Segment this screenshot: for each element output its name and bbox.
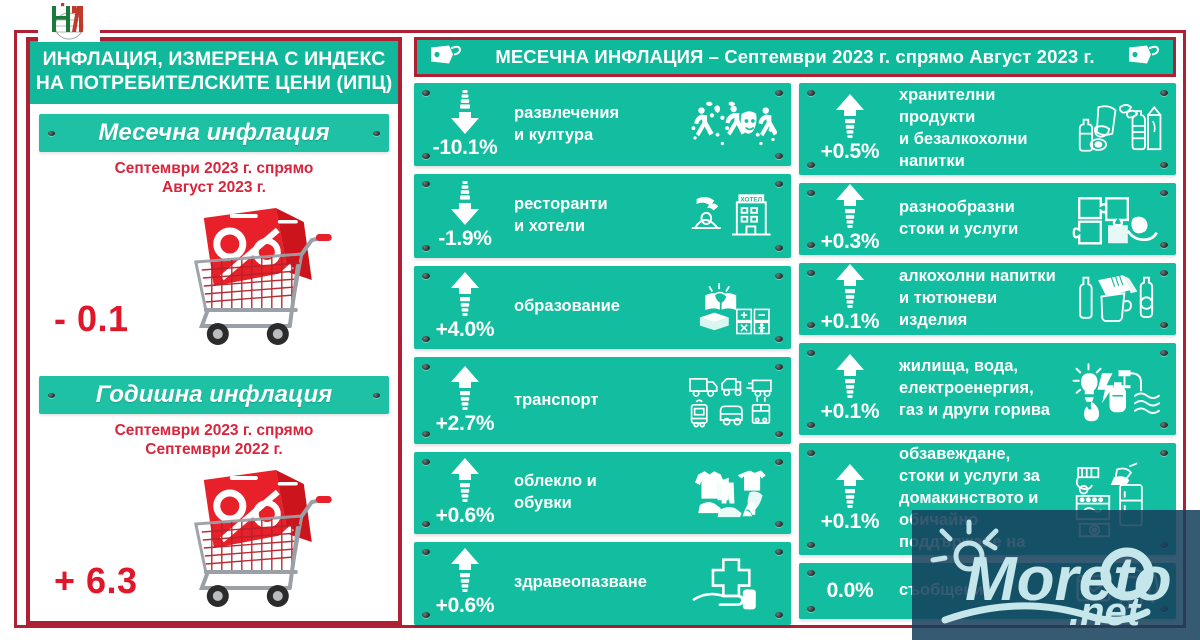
screw-icon	[1160, 90, 1168, 96]
category-label-line: здравеопазване	[514, 572, 681, 594]
category-percent: +2.7%	[436, 412, 495, 436]
category-label-line: алкохолни напитки	[899, 266, 1066, 288]
food-nonalcoholic-icon	[1072, 83, 1176, 175]
screw-icon	[1160, 270, 1168, 276]
annual-period-line1: Септември 2023 г. спрямо	[30, 421, 398, 441]
category-row[interactable]: -1.9%ресторантии хотели ХОТЕЛ	[414, 174, 791, 257]
category-metric: -1.9%	[414, 181, 510, 251]
category-label: разнообразнистоки и услуги	[895, 197, 1072, 241]
monthly-cart-block: - 0.1	[30, 200, 398, 368]
screw-icon	[1160, 190, 1168, 196]
arrow-up-icon	[835, 354, 865, 398]
shopping-cart-percent-icon	[126, 462, 336, 617]
category-metric: +4.0%	[414, 272, 510, 342]
screw-icon	[775, 521, 783, 527]
annual-inflation-value: + 6.3	[54, 560, 138, 602]
annual-period-line2: Септември 2022 г.	[30, 440, 398, 460]
category-metric: +0.1%	[799, 354, 895, 424]
category-label: образование	[510, 296, 687, 318]
screw-icon	[775, 245, 783, 251]
category-label: жилища, вода,електроенергия,газ и други …	[895, 356, 1072, 422]
monthly-period-line2: Август 2023 г.	[30, 178, 398, 198]
arrow-down-icon	[450, 90, 480, 134]
arrow-up-icon	[835, 264, 865, 308]
arrow-up-icon	[450, 458, 480, 502]
category-label-line: и култура	[514, 125, 681, 147]
arrow-down-icon	[450, 181, 480, 225]
arrow-up-icon	[835, 94, 865, 138]
screw-icon	[807, 570, 815, 576]
screw-icon	[1160, 450, 1168, 456]
category-label: хранителни продуктии безалкохолнинапитки	[895, 85, 1072, 173]
arrow-up-icon	[835, 464, 865, 508]
arrow-up-icon	[450, 548, 480, 592]
arrow-up-icon	[450, 366, 480, 410]
category-row[interactable]: +0.6%облекло иобувки	[414, 452, 791, 533]
category-label-line: и хотели	[514, 216, 681, 238]
category-percent: -10.1%	[433, 136, 498, 160]
category-metric: +2.7%	[414, 366, 510, 436]
monthly-period-line1: Септември 2023 г. спрямо	[30, 159, 398, 179]
screw-icon	[422, 521, 430, 527]
annual-period: Септември 2023 г. спрямо Септември 2022 …	[30, 421, 398, 460]
monthly-inflation-header-text: МЕСЕЧНА ИНФЛАЦИЯ – Септември 2023 г. спр…	[495, 46, 1094, 68]
screw-icon	[373, 131, 380, 136]
category-percent: 0.0%	[827, 579, 874, 603]
screw-icon	[422, 336, 430, 342]
screw-icon	[1160, 162, 1168, 168]
category-percent: -1.9%	[438, 227, 491, 251]
category-label: здравеопазване	[510, 572, 687, 594]
category-percent: +0.6%	[436, 504, 495, 528]
page-title: ИНФЛАЦИЯ, ИЗМЕРЕНА С ИНДЕКС НА ПОТРЕБИТЕ…	[30, 41, 398, 104]
category-metric: +0.6%	[414, 548, 510, 618]
category-metric: +0.6%	[414, 458, 510, 528]
monthly-inflation-header: МЕСЕЧНА ИНФЛАЦИЯ – Септември 2023 г. спр…	[414, 37, 1176, 77]
screw-icon	[422, 90, 430, 96]
screw-icon	[775, 273, 783, 279]
category-column-left: -10.1%развлеченияи култура	[414, 83, 791, 625]
category-label-line: облекло и	[514, 471, 681, 493]
screw-icon	[1160, 422, 1168, 428]
category-label-line: и безалкохолни	[899, 129, 1066, 151]
screw-icon	[422, 273, 430, 279]
screw-icon	[807, 542, 815, 548]
category-label-line: газ и други горива	[899, 400, 1066, 422]
screw-icon	[807, 322, 815, 328]
category-label-line: транспорт	[514, 390, 681, 412]
monthly-inflation-value: - 0.1	[54, 298, 129, 340]
screw-icon	[775, 90, 783, 96]
screw-icon	[422, 431, 430, 437]
screw-icon	[48, 393, 55, 398]
category-label-line: жилища, вода,	[899, 356, 1066, 378]
screw-icon	[48, 131, 55, 136]
category-percent: +4.0%	[436, 318, 495, 342]
screw-icon	[422, 612, 430, 618]
screw-icon	[807, 450, 815, 456]
category-metric: +0.5%	[799, 94, 895, 164]
category-row[interactable]: +0.6%здравеопазване	[414, 542, 791, 625]
category-row[interactable]: +0.1%алкохолни напиткии тютюневи изделия	[799, 263, 1176, 335]
category-percent: +0.1%	[821, 510, 880, 534]
category-label-line: електроенергия,	[899, 378, 1066, 400]
screw-icon	[807, 350, 815, 356]
category-label-line: развлечения	[514, 103, 681, 125]
screw-icon	[807, 162, 815, 168]
annual-inflation-label: Годишна инфлация	[96, 381, 333, 409]
category-label: облекло иобувки	[510, 471, 687, 515]
category-label-line: стоки и услуги за	[899, 466, 1066, 488]
category-row[interactable]: +4.0%образование	[414, 266, 791, 349]
screw-icon	[373, 393, 380, 398]
annual-cart-block: + 6.3	[30, 462, 398, 630]
category-label-line: разнообразни	[899, 197, 1066, 219]
category-row[interactable]: +0.1%жилища, вода,електроенергия,газ и д…	[799, 343, 1176, 435]
category-row[interactable]: -10.1%развлеченияи култура	[414, 83, 791, 166]
screw-icon	[775, 612, 783, 618]
arrow-up-icon	[450, 272, 480, 316]
monthly-inflation-label: Месечна инфлация	[98, 119, 329, 147]
category-percent: +0.1%	[821, 310, 880, 334]
screw-icon	[807, 190, 815, 196]
category-percent: +0.3%	[821, 230, 880, 254]
category-metric: 0.0%	[799, 579, 895, 603]
screw-icon	[807, 90, 815, 96]
shopping-cart-percent-icon	[126, 200, 336, 355]
price-tag-icon	[1127, 43, 1161, 72]
category-row[interactable]: +0.3%разнообразнистоки и услуги	[799, 183, 1176, 255]
nsi-logo	[38, 0, 100, 42]
screw-icon	[775, 549, 783, 555]
category-metric: +0.1%	[799, 464, 895, 534]
category-percent: +0.6%	[436, 594, 495, 618]
screw-icon	[1160, 322, 1168, 328]
category-label-line: ресторанти	[514, 194, 681, 216]
category-percent: +0.1%	[821, 400, 880, 424]
svg-text:ХОТЕЛ: ХОТЕЛ	[740, 197, 762, 204]
category-label: алкохолни напиткии тютюневи изделия	[895, 266, 1072, 332]
monthly-period: Септември 2023 г. спрямо Август 2023 г.	[30, 159, 398, 198]
annual-inflation-band: Годишна инфлация	[39, 376, 389, 414]
screw-icon	[807, 606, 815, 612]
moreto-net-watermark: Moreto .net	[912, 510, 1200, 640]
screw-icon	[775, 364, 783, 370]
category-label: ресторантии хотели	[510, 194, 687, 238]
arrow-up-icon	[835, 184, 865, 228]
category-label-line: хранителни продукти	[899, 85, 1066, 129]
category-label-line: напитки	[899, 151, 1066, 173]
screw-icon	[807, 270, 815, 276]
category-label: транспорт	[510, 390, 687, 412]
category-percent: +0.5%	[821, 140, 880, 164]
category-label-line: обувки	[514, 493, 681, 515]
infographic-page: ИНФЛАЦИЯ, ИЗМЕРЕНА С ИНДЕКС НА ПОТРЕБИТЕ…	[0, 0, 1200, 640]
screw-icon	[807, 422, 815, 428]
screw-icon	[1160, 242, 1168, 248]
monthly-inflation-band: Месечна инфлация	[39, 114, 389, 152]
screw-icon	[807, 242, 815, 248]
screw-icon	[1160, 350, 1168, 356]
screw-icon	[422, 245, 430, 251]
screw-icon	[775, 336, 783, 342]
left-panel: ИНФЛАЦИЯ, ИЗМЕРЕНА С ИНДЕКС НА ПОТРЕБИТЕ…	[26, 37, 402, 625]
category-label-line: образование	[514, 296, 681, 318]
category-row[interactable]: +0.5%хранителни продуктии безалкохолнина…	[799, 83, 1176, 175]
category-metric: -10.1%	[414, 90, 510, 160]
category-label-line: и тютюневи изделия	[899, 288, 1066, 332]
category-label: развлеченияи култура	[510, 103, 687, 147]
category-label-line: жилищно обзавеждане,	[899, 443, 1066, 466]
screw-icon	[422, 364, 430, 370]
screw-icon	[422, 549, 430, 555]
category-row[interactable]: +2.7%транспорт	[414, 357, 791, 444]
category-label-line: стоки и услуги	[899, 219, 1066, 241]
housing-utilities-icon	[1072, 343, 1176, 435]
price-tag-icon	[429, 43, 463, 72]
